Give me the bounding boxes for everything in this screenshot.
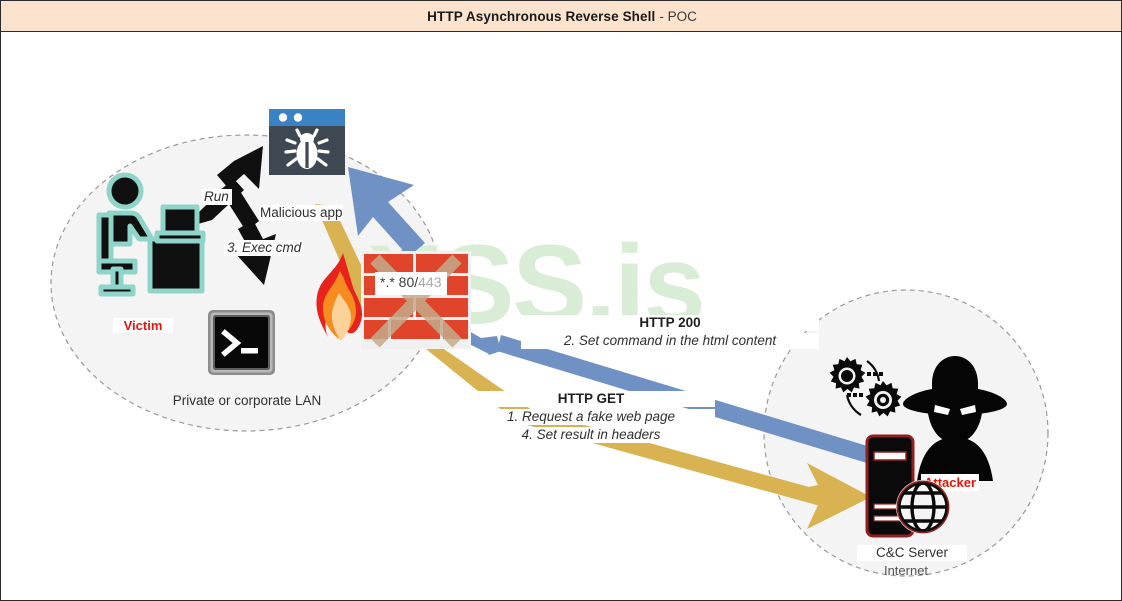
window-title: HTTP Asynchronous Reverse Shell	[427, 9, 655, 24]
firewall-ports-label: *.* 80/443	[375, 272, 447, 295]
http-200-title: HTTP 200	[521, 315, 819, 331]
person-at-desk-icon	[89, 163, 209, 298]
http-get-title: HTTP GET	[467, 391, 715, 407]
http-200-line1: 2. Set command in the html content	[521, 333, 819, 349]
server-globe-icon	[865, 434, 953, 540]
http-get-line1: 1. Request a fake web page	[467, 409, 715, 425]
diagram-canvas: XSS.is	[1, 33, 1121, 600]
flame-icon	[306, 251, 374, 355]
http-get-line2: 4. Set result in headers	[467, 427, 715, 443]
diagram-window: HTTP Asynchronous Reverse Shell - POC XS…	[0, 0, 1122, 601]
malicious-app-label: Malicious app	[260, 205, 343, 221]
run-flow-label: Run	[201, 189, 232, 205]
internet-zone-caption: Internet	[846, 563, 966, 578]
lan-zone-caption: Private or corporate LAN	[151, 393, 343, 409]
http-get-flow-label: HTTP GET 1. Request a fake web page 4. S…	[467, 390, 707, 444]
brick-wall-icon	[361, 251, 471, 349]
bug-window-icon	[269, 109, 345, 175]
gears-sync-icon	[829, 353, 905, 419]
terminal-icon	[208, 310, 275, 375]
exec-cmd-flow-label: 3. Exec cmd	[224, 240, 304, 256]
window-titlebar: HTTP Asynchronous Reverse Shell - POC	[1, 1, 1122, 32]
window-subtitle: - POC	[659, 9, 697, 24]
http-200-flow-label: HTTP 200 2. Set command in the html cont…	[521, 314, 811, 350]
cc-server-label: C&C Server	[857, 545, 967, 561]
victim-label: Victim	[113, 318, 173, 333]
